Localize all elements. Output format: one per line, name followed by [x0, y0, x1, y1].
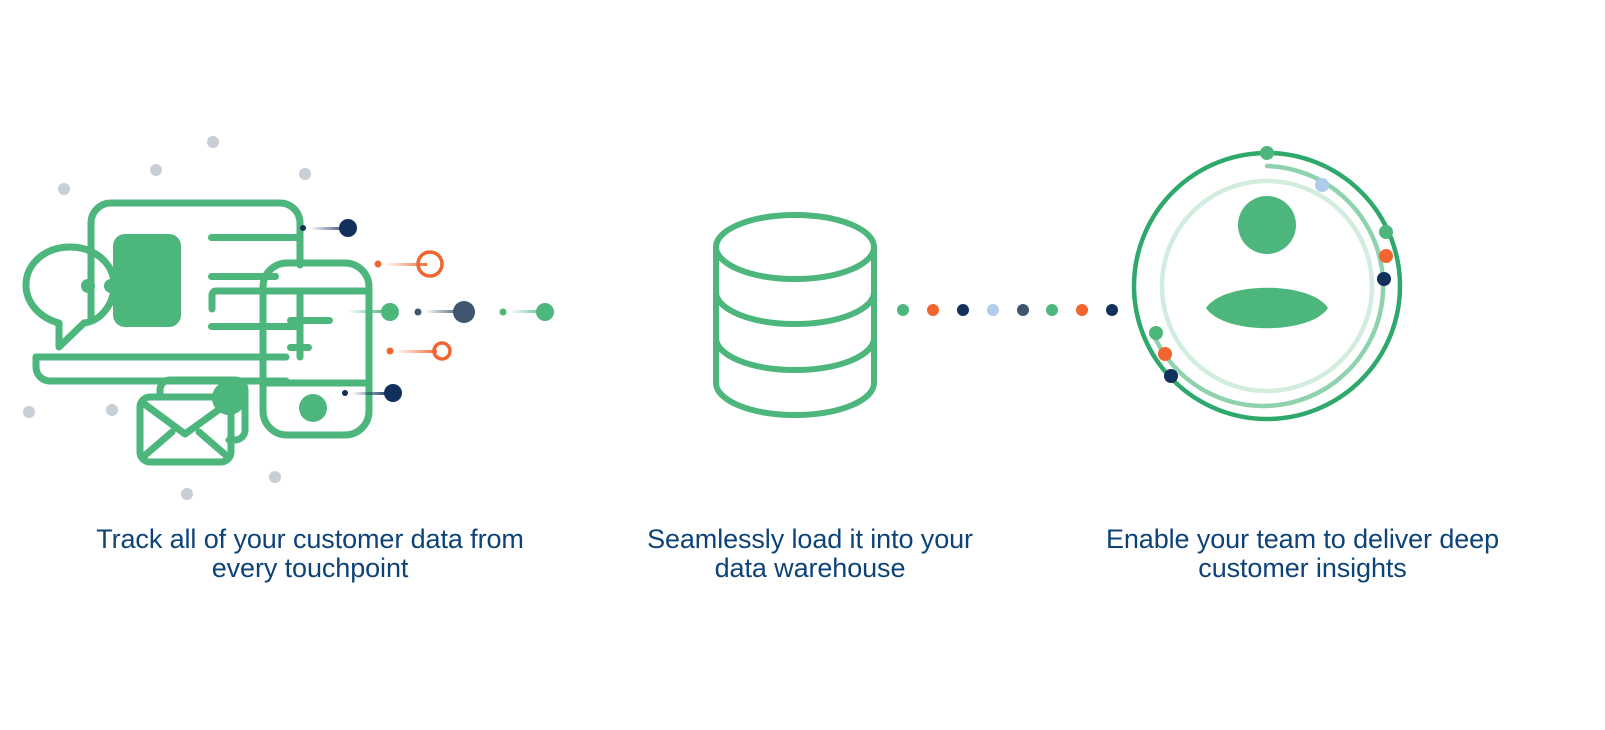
stage-enable-team-insights: Enable your team to deliver deep custome…: [1000, 0, 1605, 730]
orbit-dot: [1377, 272, 1391, 286]
caption-load-line1: Seamlessly load it into your: [620, 525, 1000, 554]
infographic-root: Track all of your customer data from eve…: [0, 0, 1605, 730]
envelope-badge-icon: [212, 381, 246, 415]
insights-illustration: [1000, 95, 1605, 495]
caption-load-line2: data warehouse: [620, 554, 1000, 583]
orbit-dot: [1149, 326, 1163, 340]
caption-enable-line2: customer insights: [1000, 554, 1605, 583]
orbit-dot: [1260, 146, 1274, 160]
orbit-dot: [1315, 178, 1329, 192]
stage-load-into-warehouse: Seamlessly load it into your data wareho…: [620, 0, 1000, 730]
track-illustration: [0, 95, 620, 495]
smartphone-screen-content: [287, 317, 333, 422]
caption-load: Seamlessly load it into your data wareho…: [620, 525, 1000, 583]
orbit-dot: [1164, 369, 1178, 383]
orbit-dot: [1379, 225, 1393, 239]
caption-track-line1: Track all of your customer data from: [0, 525, 620, 554]
caption-enable: Enable your team to deliver deep custome…: [1000, 525, 1605, 583]
caption-track: Track all of your customer data from eve…: [0, 525, 620, 583]
database-cylinder-icon: [716, 215, 874, 415]
warehouse-illustration: [620, 95, 1000, 495]
orbit-dot: [1379, 249, 1393, 263]
laptop-screen-content: [113, 234, 300, 330]
particle-stream: [300, 219, 554, 402]
orbit-dot: [1158, 347, 1172, 361]
user-avatar-icon: [1206, 196, 1328, 328]
stage-track-customer-data: Track all of your customer data from eve…: [0, 0, 620, 730]
caption-enable-line1: Enable your team to deliver deep: [1000, 525, 1605, 554]
caption-track-line2: every touchpoint: [0, 554, 620, 583]
